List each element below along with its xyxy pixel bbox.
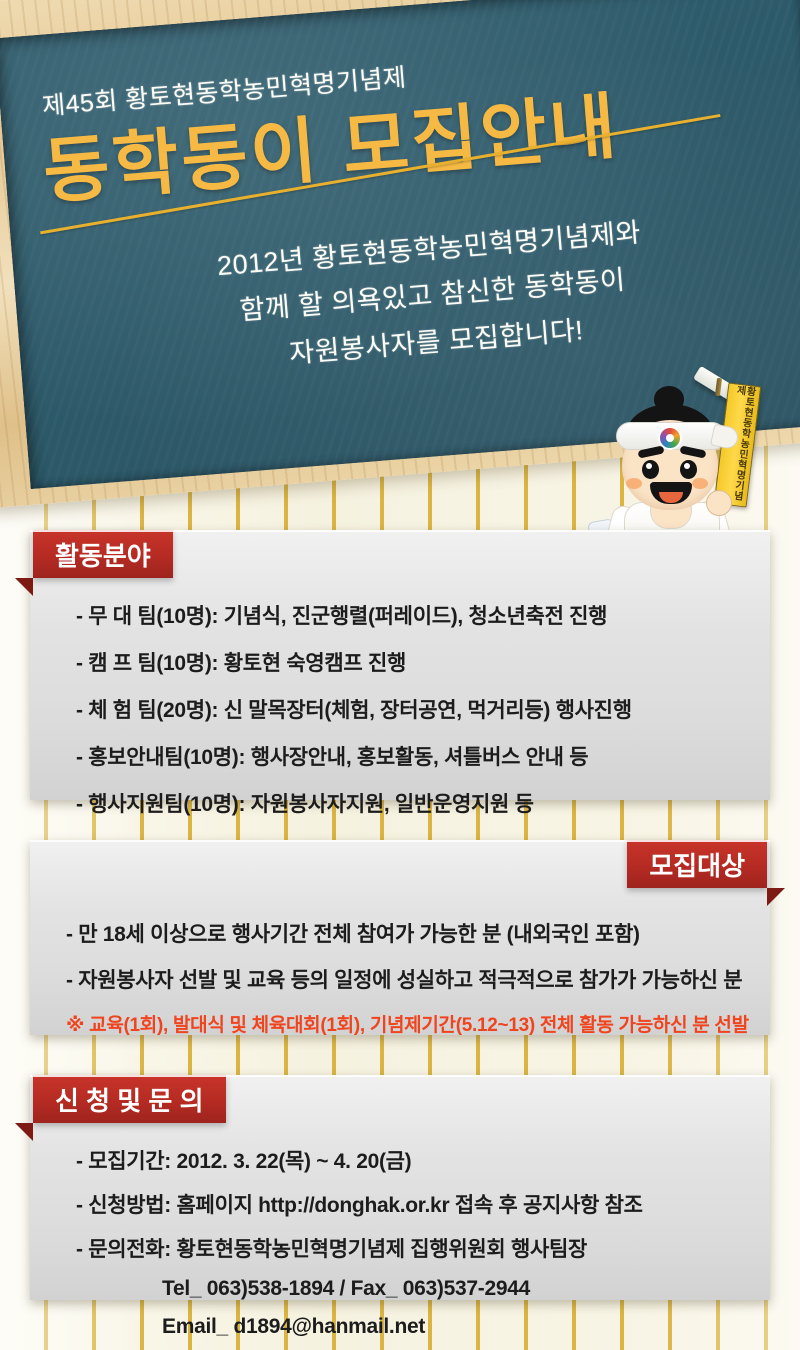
section-recruitment-target: 모집대상 - 만 18세 이상으로 행사기간 전체 참여가 가능한 분 (내외국… <box>30 840 770 1035</box>
contact-line-period: - 모집기간: 2012. 3. 22(목) ~ 4. 20(금) <box>76 1145 770 1175</box>
board-body-text: 2012년 황토현동학농민혁명기념제와 함께 할 의욕있고 참신한 동학동이 자… <box>108 201 757 391</box>
mascot-left-eye <box>642 460 659 479</box>
section-apply-and-contact: 신 청 및 문 의 - 모집기간: 2012. 3. 22(목) ~ 4. 20… <box>30 1075 770 1300</box>
mascot-left-cheek <box>626 478 642 489</box>
poster-root: 제45회 황토현동학농민혁명기념제 동학동이 모집안내 2012년 황토현동학농… <box>0 0 800 1350</box>
mascot-right-hand <box>706 490 732 516</box>
target-note: ※ 교육(1회), 발대식 및 체육대회(1회), 기념제기간(5.12~13)… <box>66 1010 770 1037</box>
contact-line-phone-owner: - 문의전화: 황토현동학농민혁명기념제 집행위원회 행사팀장 <box>76 1233 770 1263</box>
activity-line-stage: - 무 대 팀(10명): 기념식, 진군행렬(퍼레이드), 청소년축전 진행 <box>76 600 770 630</box>
target-line-age: - 만 18세 이상으로 행사기간 전체 참여가 가능한 분 (내외국인 포함) <box>66 918 770 948</box>
target-line-schedule: - 자원봉사자 선발 및 교육 등의 일정에 성실하고 적극적으로 참가가 가능… <box>66 964 770 994</box>
activity-line-experience: - 체 험 팀(20명): 신 말목장터(체험, 장터공연, 먹거리등) 행사진… <box>76 694 770 724</box>
contact-line-method: - 신청방법: 홈페이지 http://donghak.or.kr 접속 후 공… <box>76 1189 770 1219</box>
banner-activity-fields: 활동분야 <box>33 530 173 578</box>
banner-recruitment-target: 모집대상 <box>627 840 767 888</box>
mascot-right-cheek <box>692 478 708 489</box>
activity-line-promotion: - 홍보안내팀(10명): 행사장안내, 홍보활동, 셔틀버스 안내 등 <box>76 741 770 771</box>
section-activity-fields: 활동분야 - 무 대 팀(10명): 기념식, 진군행렬(퍼레이드), 청소년축… <box>30 530 770 800</box>
mascot-right-eye <box>680 460 697 479</box>
activity-line-support: - 행사지원팀(10명): 자원봉사자지원, 일반운영지원 등 <box>76 788 770 818</box>
banner-apply-contact: 신 청 및 문 의 <box>33 1075 226 1123</box>
flag-pole-icon <box>715 378 722 396</box>
activity-line-camp: - 캠 프 팀(10명): 황토현 숙영캠프 진행 <box>76 647 770 677</box>
contact-line-email: Email_ d1894@hanmail.net <box>76 1315 770 1339</box>
contact-line-tel-fax: Tel_ 063)538-1894 / Fax_ 063)537-2944 <box>76 1277 770 1301</box>
